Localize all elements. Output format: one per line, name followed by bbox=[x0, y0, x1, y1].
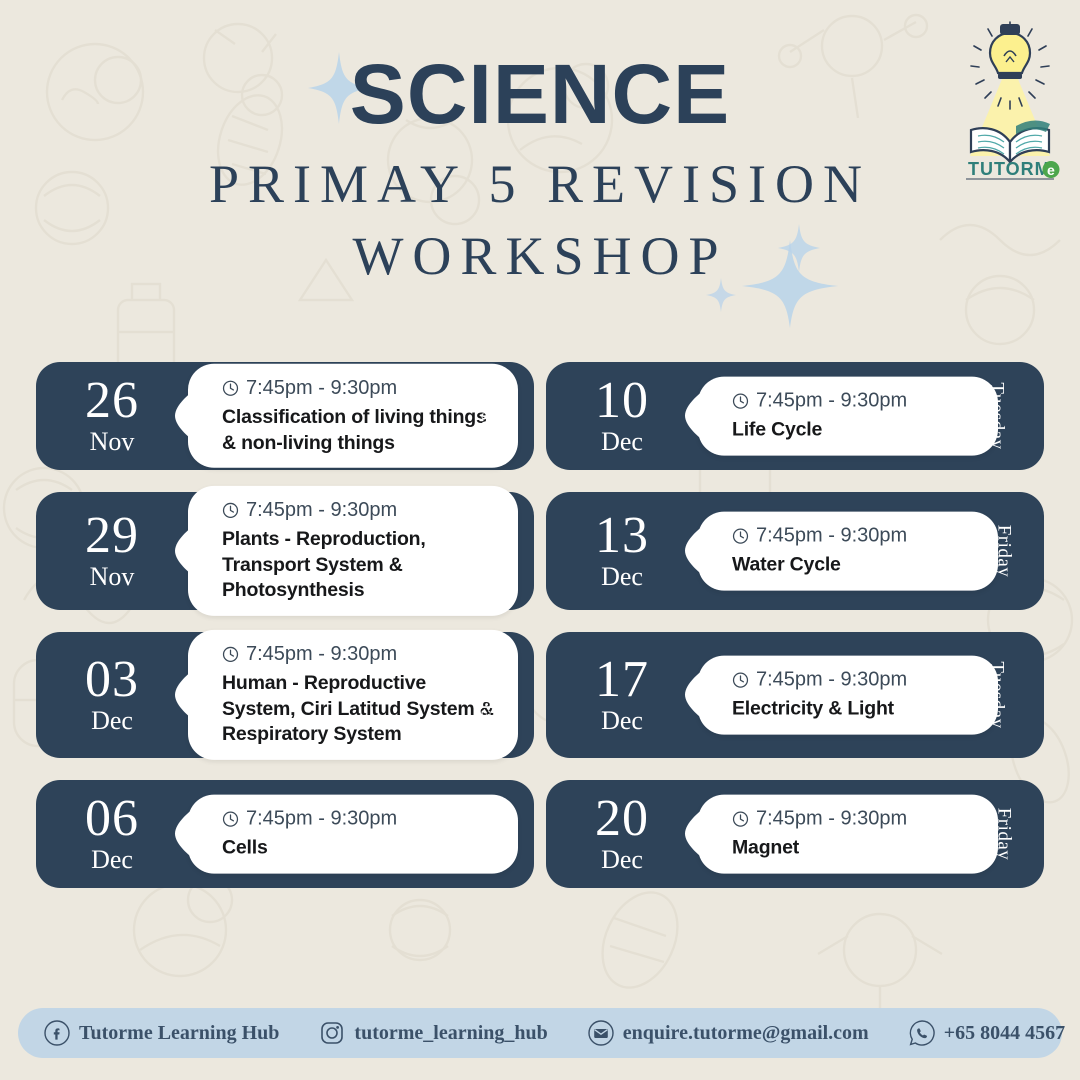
clock-icon bbox=[732, 672, 749, 689]
schedule-column-left: 26 Nov 7:45pm - 9:30pm Classification of… bbox=[36, 362, 534, 910]
card-time-row: 7:45pm - 9:30pm bbox=[222, 498, 502, 523]
footer-whatsapp-label: +65 8044 4567 bbox=[944, 1022, 1065, 1045]
footer-facebook[interactable]: Tutorme Learning Hub bbox=[44, 1020, 279, 1046]
card-panel: 7:45pm - 9:30pm Water Cycle bbox=[698, 512, 998, 591]
facebook-icon bbox=[44, 1020, 70, 1046]
card-time-row: 7:45pm - 9:30pm bbox=[732, 524, 982, 549]
date-block: 06 Dec bbox=[36, 794, 188, 875]
card-month: Dec bbox=[546, 563, 698, 592]
card-month: Nov bbox=[36, 563, 188, 592]
card-topic: Cells bbox=[222, 836, 502, 862]
card-day: 03 bbox=[36, 655, 188, 705]
card-time-row: 7:45pm - 9:30pm bbox=[732, 668, 982, 693]
date-block: 03 Dec bbox=[36, 655, 188, 736]
card-day: 06 bbox=[36, 794, 188, 844]
card-topic: Electricity & Light bbox=[732, 697, 982, 723]
card-weekday: Friday bbox=[483, 808, 505, 861]
card-day: 13 bbox=[546, 511, 698, 561]
footer-instagram-label: tutorme_learning_hub bbox=[354, 1022, 547, 1045]
card-time-row: 7:45pm - 9:30pm bbox=[222, 376, 502, 401]
subtitle-line-2: WORKSHOP bbox=[0, 220, 1080, 292]
card-topic: Plants - Reproduction, Transport System … bbox=[222, 527, 502, 604]
date-block: 17 Dec bbox=[546, 655, 698, 736]
schedule-card[interactable]: 13 Dec 7:45pm - 9:30pm Water Cycle Frida… bbox=[546, 492, 1044, 610]
card-panel: 7:45pm - 9:30pm Electricity & Light bbox=[698, 656, 998, 735]
clock-icon bbox=[222, 646, 239, 663]
date-block: 29 Nov bbox=[36, 511, 188, 592]
card-time-label: 7:45pm - 9:30pm bbox=[246, 642, 397, 667]
footer-instagram[interactable]: tutorme_learning_hub bbox=[319, 1020, 547, 1046]
logo-brand-text: TUTORM bbox=[968, 159, 1051, 179]
schedule-card[interactable]: 20 Dec 7:45pm - 9:30pm Magnet Friday bbox=[546, 780, 1044, 888]
card-time-label: 7:45pm - 9:30pm bbox=[756, 668, 907, 693]
page-subtitle: PRIMAY 5 REVISION WORKSHOP bbox=[0, 148, 1080, 293]
logo-tagline: Learning Hub bbox=[979, 182, 1041, 184]
schedule-card[interactable]: 26 Nov 7:45pm - 9:30pm Classification of… bbox=[36, 362, 534, 470]
card-month: Dec bbox=[36, 846, 188, 875]
card-weekday: Tuesday bbox=[985, 661, 1007, 728]
card-time-label: 7:45pm - 9:30pm bbox=[246, 376, 397, 401]
tutorme-logo: TUTORM e Learning Hub bbox=[954, 16, 1066, 184]
footer-email[interactable]: enquire.tutorme@gmail.com bbox=[588, 1020, 869, 1046]
card-time-label: 7:45pm - 9:30pm bbox=[246, 807, 397, 832]
card-topic: Magnet bbox=[732, 836, 982, 862]
schedule-grid: 26 Nov 7:45pm - 9:30pm Classification of… bbox=[36, 362, 1044, 892]
card-time-label: 7:45pm - 9:30pm bbox=[756, 807, 907, 832]
card-panel: 7:45pm - 9:30pm Human - Reproductive Sys… bbox=[188, 630, 518, 760]
whatsapp-icon bbox=[909, 1020, 935, 1046]
footer-email-label: enquire.tutorme@gmail.com bbox=[623, 1022, 869, 1045]
card-weekday: Friday bbox=[483, 525, 505, 578]
schedule-column-right: 10 Dec 7:45pm - 9:30pm Life Cycle Tuesda… bbox=[546, 362, 1044, 910]
date-block: 20 Dec bbox=[546, 794, 698, 875]
card-day: 26 bbox=[36, 376, 188, 426]
card-topic: Classification of living things & non-li… bbox=[222, 405, 502, 456]
card-month: Dec bbox=[546, 846, 698, 875]
card-weekday: Friday bbox=[993, 808, 1015, 861]
card-topic: Water Cycle bbox=[732, 553, 982, 579]
card-time-row: 7:45pm - 9:30pm bbox=[732, 389, 982, 414]
card-weekday: Friday bbox=[993, 525, 1015, 578]
date-block: 10 Dec bbox=[546, 376, 698, 457]
card-day: 29 bbox=[36, 511, 188, 561]
card-month: Nov bbox=[36, 428, 188, 457]
card-day: 17 bbox=[546, 655, 698, 705]
clock-icon bbox=[222, 502, 239, 519]
footer-contact-bar: Tutorme Learning Hub tutorme_learning_hu… bbox=[18, 1008, 1062, 1058]
clock-icon bbox=[732, 811, 749, 828]
card-day: 20 bbox=[546, 794, 698, 844]
clock-icon bbox=[222, 811, 239, 828]
clock-icon bbox=[732, 528, 749, 545]
card-weekday: Tuesday bbox=[985, 382, 1007, 449]
card-topic: Life Cycle bbox=[732, 418, 982, 444]
card-month: Dec bbox=[36, 707, 188, 736]
card-time-label: 7:45pm - 9:30pm bbox=[246, 498, 397, 523]
instagram-icon bbox=[319, 1020, 345, 1046]
schedule-card[interactable]: 29 Nov 7:45pm - 9:30pm Plants - Reproduc… bbox=[36, 492, 534, 610]
schedule-card[interactable]: 06 Dec 7:45pm - 9:30pm Cells Friday bbox=[36, 780, 534, 888]
schedule-card[interactable]: 10 Dec 7:45pm - 9:30pm Life Cycle Tuesda… bbox=[546, 362, 1044, 470]
card-weekday: Tuesday bbox=[475, 382, 497, 449]
card-weekday: Tuesday bbox=[475, 661, 497, 728]
card-time-row: 7:45pm - 9:30pm bbox=[732, 807, 982, 832]
schedule-card[interactable]: 03 Dec 7:45pm - 9:30pm Human - Reproduct… bbox=[36, 632, 534, 758]
card-panel: 7:45pm - 9:30pm Life Cycle bbox=[698, 377, 998, 456]
card-panel: 7:45pm - 9:30pm Plants - Reproduction, T… bbox=[188, 486, 518, 616]
footer-facebook-label: Tutorme Learning Hub bbox=[79, 1022, 279, 1045]
page-title: SCIENCE bbox=[0, 52, 1080, 136]
card-time-row: 7:45pm - 9:30pm bbox=[222, 807, 502, 832]
date-block: 13 Dec bbox=[546, 511, 698, 592]
clock-icon bbox=[732, 393, 749, 410]
subtitle-line-1: PRIMAY 5 REVISION bbox=[209, 154, 871, 214]
card-time-label: 7:45pm - 9:30pm bbox=[756, 524, 907, 549]
card-topic: Human - Reproductive System, Ciri Latitu… bbox=[222, 671, 502, 748]
card-time-label: 7:45pm - 9:30pm bbox=[756, 389, 907, 414]
header: SCIENCE PRIMAY 5 REVISION WORKSHOP bbox=[0, 0, 1080, 340]
card-month: Dec bbox=[546, 428, 698, 457]
card-panel: 7:45pm - 9:30pm Magnet bbox=[698, 795, 998, 874]
email-icon bbox=[588, 1020, 614, 1046]
card-panel: 7:45pm - 9:30pm Cells bbox=[188, 795, 518, 874]
card-month: Dec bbox=[546, 707, 698, 736]
clock-icon bbox=[222, 380, 239, 397]
logo-brand-accent: e bbox=[1047, 162, 1055, 178]
date-block: 26 Nov bbox=[36, 376, 188, 457]
schedule-card[interactable]: 17 Dec 7:45pm - 9:30pm Electricity & Lig… bbox=[546, 632, 1044, 758]
card-panel: 7:45pm - 9:30pm Classification of living… bbox=[188, 364, 518, 468]
footer-whatsapp[interactable]: +65 8044 4567 bbox=[909, 1020, 1065, 1046]
card-time-row: 7:45pm - 9:30pm bbox=[222, 642, 502, 667]
card-day: 10 bbox=[546, 376, 698, 426]
